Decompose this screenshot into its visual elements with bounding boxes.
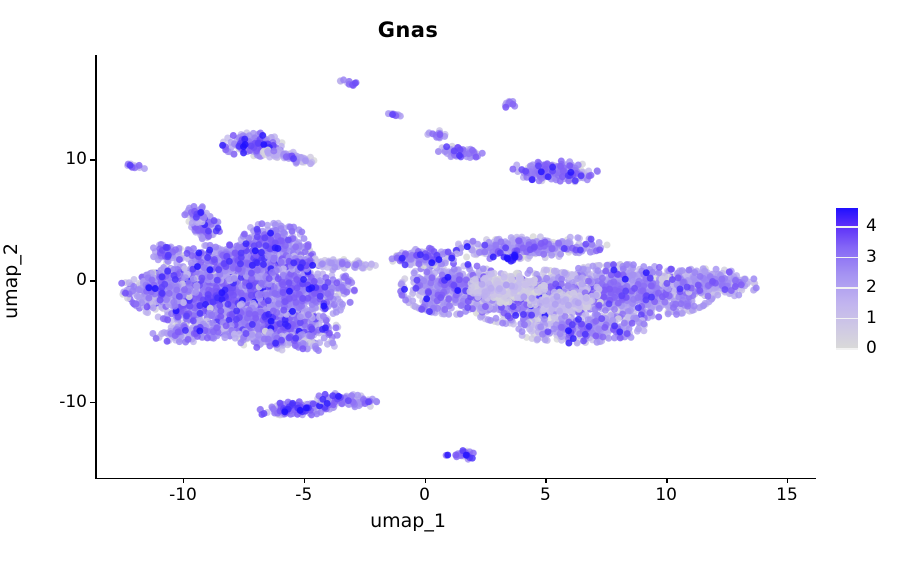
- x-tick-label: 0: [419, 485, 430, 505]
- x-tick-mark: [666, 478, 667, 483]
- colorbar-tick-label: 3: [866, 247, 877, 267]
- x-axis-spine: [95, 478, 816, 480]
- colorbar-tick-mark: [836, 318, 858, 320]
- umap-feature-plot: Gnas -10-5051015 -10010 umap_1 umap_2 43…: [0, 0, 911, 562]
- colorbar-tick-label: 1: [866, 308, 877, 328]
- scatter-canvas: [96, 55, 816, 478]
- colorbar-gradient: [836, 208, 858, 348]
- y-axis-label: umap_2: [0, 0, 24, 562]
- plot-area: [96, 55, 816, 478]
- colorbar-tick-mark: [836, 348, 858, 350]
- x-tick-label: -5: [295, 485, 312, 505]
- y-axis-spine: [95, 55, 97, 479]
- colorbar-tick-mark: [836, 226, 858, 228]
- x-tick-mark: [183, 478, 184, 483]
- x-tick-label: 15: [776, 485, 798, 505]
- x-tick-label: 5: [540, 485, 551, 505]
- colorbar-tick-mark: [836, 287, 858, 289]
- colorbar-tick-label: 0: [866, 338, 877, 358]
- y-tick-mark: [90, 159, 95, 160]
- page-title: Gnas: [0, 18, 816, 42]
- y-tick-mark: [90, 402, 95, 403]
- colorbar-tick-label: 4: [866, 216, 877, 236]
- x-tick-mark: [425, 478, 426, 483]
- y-tick-label: -10: [59, 392, 87, 412]
- colorbar-tick-label: 2: [866, 277, 877, 297]
- y-tick-label: 0: [76, 270, 87, 290]
- x-tick-label: 10: [655, 485, 677, 505]
- x-axis-label: umap_1: [0, 510, 816, 532]
- colorbar-tick-mark: [836, 257, 858, 259]
- x-tick-mark: [545, 478, 546, 483]
- y-tick-mark: [90, 280, 95, 281]
- x-tick-mark: [304, 478, 305, 483]
- x-tick-label: -10: [169, 485, 197, 505]
- x-tick-mark: [787, 478, 788, 483]
- y-tick-label: 10: [65, 149, 87, 169]
